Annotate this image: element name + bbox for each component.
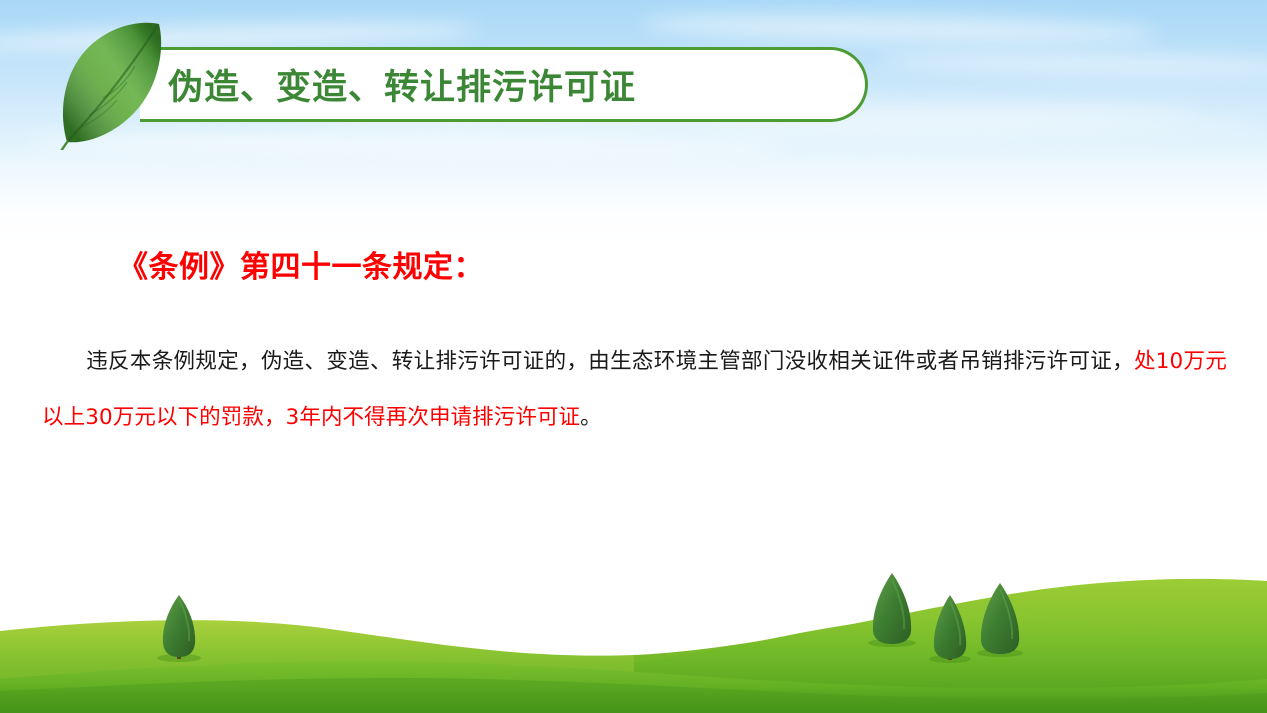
paragraph-segment-2: ， (1112, 349, 1134, 374)
cloud-streak-icon (640, 11, 1160, 48)
regulation-heading: 《条例》第四十一条规定： (118, 246, 1267, 290)
slide-canvas: 伪造、变造、转让排污许可证 《条例》第四十一条规定： (0, 0, 1267, 713)
content-area: 《条例》第四十一条规定： 违反本条例规定，伪造、变造、转让排污许可证的，由生态环… (0, 246, 1267, 446)
paragraph-segment-1: 违反本条例规定，伪造、变造、转让排污许可证的，由生态环境主管部门没收相关证件或者… (86, 349, 1112, 374)
page-title: 伪造、变造、转让排污许可证 (168, 47, 848, 122)
leaf-icon (55, 20, 175, 150)
regulation-paragraph: 违反本条例规定，伪造、变造、转让排污许可证的，由生态环境主管部门没收相关证件或者… (42, 334, 1227, 446)
grass-hills-illustration (0, 533, 1267, 713)
paragraph-segment-4: 。 (580, 405, 602, 430)
cloud-streak-icon (880, 50, 1267, 78)
tree-right-1-icon (868, 573, 916, 647)
